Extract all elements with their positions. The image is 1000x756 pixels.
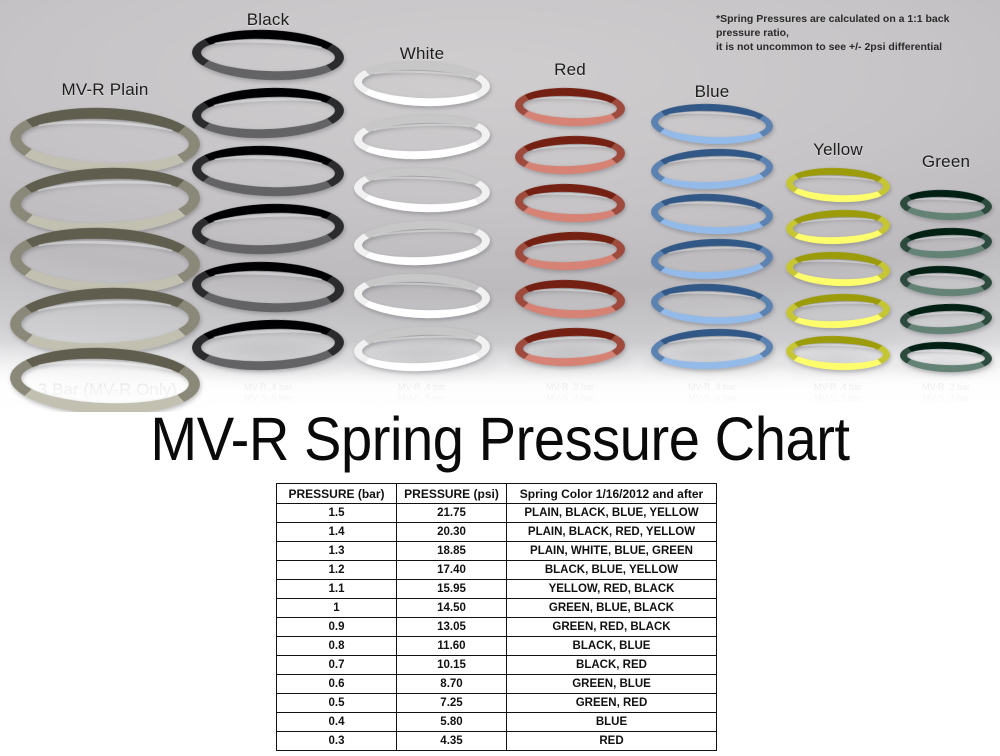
table-cell-r7-c2: BLACK, BLUE bbox=[507, 637, 717, 656]
coil-highlight bbox=[31, 238, 180, 266]
table-row: 0.68.70GREEN, BLUE bbox=[277, 675, 717, 694]
table-cell-r11-c2: BLUE bbox=[507, 713, 717, 732]
table-row: 0.34.35RED bbox=[277, 732, 717, 751]
table-cell-r3-c1: 17.40 bbox=[397, 561, 507, 580]
table-cell-r5-c1: 14.50 bbox=[397, 599, 507, 618]
table-row: 1.115.95YELLOW, RED, BLACK bbox=[277, 580, 717, 599]
coil-highlight bbox=[529, 191, 612, 205]
coil-highlight bbox=[369, 122, 475, 140]
disclaimer-line-1: *Spring Pressures are calculated on a 1:… bbox=[716, 12, 984, 40]
coil-highlight bbox=[209, 38, 327, 59]
spring-coil bbox=[353, 324, 491, 373]
coil-highlight bbox=[369, 228, 475, 246]
coil-highlight bbox=[209, 212, 327, 233]
table-cell-r6-c0: 0.9 bbox=[277, 618, 397, 637]
table-cell-r0-c2: PLAIN, BLACK, BLUE, YELLOW bbox=[507, 504, 717, 523]
spring-pressure-chart-page: MV-R Plain.3 Bar (MV-R Only)BlackMV-R .4… bbox=[0, 0, 1000, 756]
table-cell-r9-c0: 0.6 bbox=[277, 675, 397, 694]
spring-caption-line-2: MV-S .5 bar bbox=[312, 393, 532, 404]
coil-highlight bbox=[664, 155, 759, 172]
table-header-cell-2: Spring Color 1/16/2012 and after bbox=[507, 484, 717, 504]
coil-highlight bbox=[664, 335, 759, 352]
coil-highlight bbox=[528, 335, 611, 349]
spring-coil bbox=[899, 340, 992, 374]
table-row: 1.521.75PLAIN, BLACK, BLUE, YELLOW bbox=[277, 504, 717, 523]
spring-coil bbox=[899, 302, 992, 336]
table-body: 1.521.75PLAIN, BLACK, BLUE, YELLOW1.420.… bbox=[277, 504, 717, 751]
spring-caption-line-2: MV-S .3 bar bbox=[836, 393, 1000, 404]
table-cell-r1-c1: 20.30 bbox=[397, 523, 507, 542]
table-row: 1.318.85PLAIN, WHITE, BLUE, GREEN bbox=[277, 542, 717, 561]
pressure-table-wrapper: PRESSURE (bar)PRESSURE (psi)Spring Color… bbox=[276, 483, 716, 751]
table-cell-r5-c0: 1 bbox=[277, 599, 397, 618]
coil-highlight bbox=[209, 270, 327, 291]
table-cell-r6-c1: 13.05 bbox=[397, 618, 507, 637]
spring-caption-line-1: MV-R .4 bar bbox=[312, 382, 532, 393]
table-cell-r0-c1: 21.75 bbox=[397, 504, 507, 523]
spring-caption: MV-R .2 barMV-S .3 bar bbox=[836, 382, 1000, 404]
pressure-table: PRESSURE (bar)PRESSURE (psi)Spring Color… bbox=[276, 483, 717, 751]
spring-coil bbox=[650, 327, 773, 372]
table-row: 1.420.30PLAIN, BLACK, RED, YELLOW bbox=[277, 523, 717, 542]
coil-highlight bbox=[369, 175, 475, 193]
table-row: 0.710.15BLACK, RED bbox=[277, 656, 717, 675]
page-title: MV-R Spring Pressure Chart bbox=[40, 406, 960, 472]
coil-highlight bbox=[529, 287, 612, 301]
coil-highlight bbox=[664, 290, 759, 307]
coil-highlight bbox=[31, 358, 180, 386]
coil-highlight bbox=[798, 342, 878, 355]
coil-highlight bbox=[912, 272, 981, 283]
table-cell-r11-c1: 5.80 bbox=[397, 713, 507, 732]
table-cell-r3-c2: BLACK, BLUE, YELLOW bbox=[507, 561, 717, 580]
spring-coil bbox=[191, 317, 345, 373]
spring-coil bbox=[9, 284, 201, 357]
coil-highlight bbox=[798, 216, 878, 229]
table-cell-r4-c0: 1.1 bbox=[277, 580, 397, 599]
table-row: 0.45.80BLUE bbox=[277, 713, 717, 732]
coil-highlight bbox=[31, 118, 180, 146]
table-cell-r7-c1: 11.60 bbox=[397, 637, 507, 656]
spring-caption-line-2: MV-S .6 bar bbox=[602, 393, 822, 404]
table-cell-r4-c2: YELLOW, RED, BLACK bbox=[507, 580, 717, 599]
coil-highlight bbox=[798, 174, 878, 187]
coil-highlight bbox=[369, 281, 475, 299]
table-cell-r12-c2: RED bbox=[507, 732, 717, 751]
spring-caption: MV-R .4 barMV-S .5 bar bbox=[728, 382, 948, 404]
table-cell-r1-c2: PLAIN, BLACK, RED, YELLOW bbox=[507, 523, 717, 542]
table-cell-r12-c0: 0.3 bbox=[277, 732, 397, 751]
table-cell-r3-c0: 1.2 bbox=[277, 561, 397, 580]
spring-caption-line-1: MV-R .3 bar bbox=[460, 382, 680, 393]
spring-caption-line-2: MV-S .5 bar bbox=[728, 393, 948, 404]
table-cell-r9-c1: 8.70 bbox=[397, 675, 507, 694]
spring-caption-line-2: MV-S .4 bar bbox=[460, 393, 680, 404]
table-row: 0.811.60BLACK, BLUE bbox=[277, 637, 717, 656]
table-row: 114.50GREEN, BLUE, BLACK bbox=[277, 599, 717, 618]
coil-highlight bbox=[209, 328, 327, 349]
table-cell-r10-c2: GREEN, RED bbox=[507, 694, 717, 713]
spring-coil bbox=[899, 188, 992, 222]
disclaimer-note: *Spring Pressures are calculated on a 1:… bbox=[716, 12, 984, 54]
table-header-cell-1: PRESSURE (psi) bbox=[397, 484, 507, 504]
table-cell-r8-c2: BLACK, RED bbox=[507, 656, 717, 675]
table-cell-r2-c2: PLAIN, WHITE, BLUE, GREEN bbox=[507, 542, 717, 561]
table-cell-r11-c0: 0.4 bbox=[277, 713, 397, 732]
spring-caption: MV-R .4 barMV-S .5 bar bbox=[312, 382, 532, 404]
spring-caption: MV-R .3 barMV-S .4 bar bbox=[460, 382, 680, 404]
spring-coil bbox=[514, 326, 625, 368]
coil-highlight bbox=[30, 298, 179, 326]
table-cell-r7-c0: 0.8 bbox=[277, 637, 397, 656]
coil-highlight bbox=[369, 69, 475, 87]
spring-caption-line-1: MV-R .2 bar bbox=[836, 382, 1000, 393]
spring-coil bbox=[899, 264, 992, 298]
spring-name-label: Green bbox=[846, 152, 1000, 172]
spring-caption-line-1: MV-R .4 bar bbox=[728, 382, 948, 393]
coil-highlight bbox=[911, 234, 980, 245]
table-cell-r1-c0: 1.4 bbox=[277, 523, 397, 542]
coil-highlight bbox=[30, 178, 179, 206]
spring-coil bbox=[9, 344, 201, 412]
table-cell-r2-c0: 1.3 bbox=[277, 542, 397, 561]
table-header-cell-0: PRESSURE (bar) bbox=[277, 484, 397, 504]
coil-highlight bbox=[912, 196, 981, 207]
table-row: 0.57.25GREEN, RED bbox=[277, 694, 717, 713]
spring-caption-line-1: MV-R .4 bar bbox=[602, 382, 822, 393]
table-cell-r12-c1: 4.35 bbox=[397, 732, 507, 751]
coil-highlight bbox=[798, 258, 878, 271]
spring-caption: MV-R .4 barMV-S .6 bar bbox=[602, 382, 822, 404]
coil-highlight bbox=[369, 334, 475, 352]
table-cell-r0-c0: 1.5 bbox=[277, 504, 397, 523]
coil-highlight bbox=[209, 154, 327, 175]
spring-coil bbox=[899, 226, 992, 260]
coil-highlight bbox=[798, 300, 878, 313]
coil-highlight bbox=[528, 239, 611, 253]
coil-highlight bbox=[664, 245, 759, 262]
table-cell-r10-c0: 0.5 bbox=[277, 694, 397, 713]
coil-highlight bbox=[664, 110, 759, 127]
coil-highlight bbox=[529, 95, 612, 109]
table-cell-r5-c2: GREEN, BLUE, BLACK bbox=[507, 599, 717, 618]
table-cell-r6-c2: GREEN, RED, BLACK bbox=[507, 618, 717, 637]
table-header-row: PRESSURE (bar)PRESSURE (psi)Spring Color… bbox=[277, 484, 717, 504]
coil-highlight bbox=[911, 310, 980, 321]
coil-highlight bbox=[209, 96, 327, 117]
table-cell-r4-c1: 15.95 bbox=[397, 580, 507, 599]
table-row: 0.913.05GREEN, RED, BLACK bbox=[277, 618, 717, 637]
table-cell-r2-c1: 18.85 bbox=[397, 542, 507, 561]
table-cell-r8-c0: 0.7 bbox=[277, 656, 397, 675]
table-row: 1.217.40BLACK, BLUE, YELLOW bbox=[277, 561, 717, 580]
disclaimer-line-2: it is not uncommon to see +/- 2psi diffe… bbox=[716, 40, 984, 54]
coil-highlight bbox=[528, 143, 611, 157]
table-cell-r10-c1: 7.25 bbox=[397, 694, 507, 713]
table-cell-r8-c1: 10.15 bbox=[397, 656, 507, 675]
coil-highlight bbox=[664, 200, 759, 217]
coil-highlight bbox=[912, 348, 981, 359]
table-cell-r9-c2: GREEN, BLUE bbox=[507, 675, 717, 694]
spring-photo-panel: MV-R Plain.3 Bar (MV-R Only)BlackMV-R .4… bbox=[0, 0, 1000, 412]
